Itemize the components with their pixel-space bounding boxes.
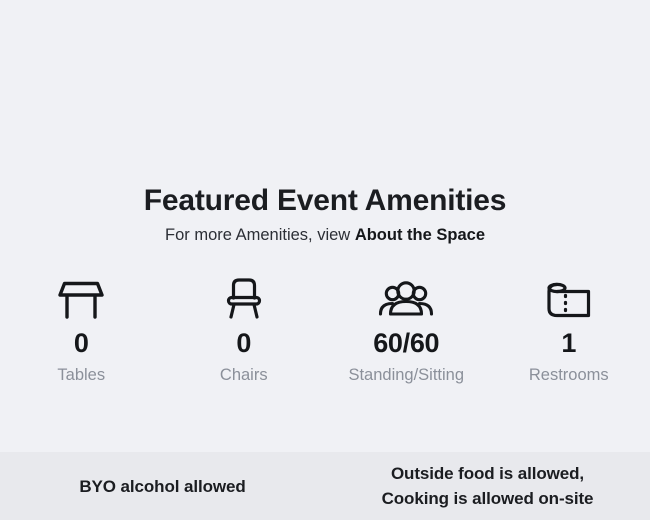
table-icon <box>54 276 108 322</box>
amenity-item-chairs: 0 Chairs <box>163 276 326 386</box>
amenity-value: 0 <box>236 328 251 359</box>
page-subtitle: For more Amenities, view About the Space <box>16 224 634 246</box>
policy-line: Cooking is allowed on-site <box>335 486 640 511</box>
page-subtitle-prefix: For more Amenities, view <box>165 226 355 244</box>
amenity-value: 60/60 <box>373 328 439 359</box>
toilet-paper-icon <box>543 276 595 322</box>
amenity-item-tables: 0 Tables <box>0 276 163 386</box>
amenity-item-restrooms: 1 Restrooms <box>488 276 650 386</box>
policy-cell-alcohol: BYO alcohol allowed <box>0 474 325 499</box>
amenity-value: 1 <box>561 328 576 359</box>
featured-event-amenities-panel: Featured Event Amenities For more Amenit… <box>0 0 650 520</box>
amenity-label: Chairs <box>220 365 268 386</box>
people-icon <box>377 276 435 322</box>
policy-bar: BYO alcohol allowed Outside food is allo… <box>0 452 650 520</box>
page-title: Featured Event Amenities <box>16 182 634 220</box>
policy-cell-food: Outside food is allowed, Cooking is allo… <box>325 461 650 511</box>
amenity-item-standing-sitting: 60/60 Standing/Sitting <box>325 276 488 386</box>
top-spacer <box>0 0 650 182</box>
amenities-grid: 0 Tables 0 Chairs <box>0 276 650 386</box>
amenity-label: Restrooms <box>529 365 609 386</box>
chair-icon <box>221 276 267 322</box>
amenity-label: Standing/Sitting <box>348 365 464 386</box>
policy-line: BYO alcohol allowed <box>10 474 315 499</box>
about-the-space-link[interactable]: About the Space <box>355 226 485 244</box>
amenity-label: Tables <box>57 365 105 386</box>
amenity-value: 0 <box>74 328 89 359</box>
heading-block: Featured Event Amenities For more Amenit… <box>0 182 650 246</box>
policy-line: Outside food is allowed, <box>335 461 640 486</box>
